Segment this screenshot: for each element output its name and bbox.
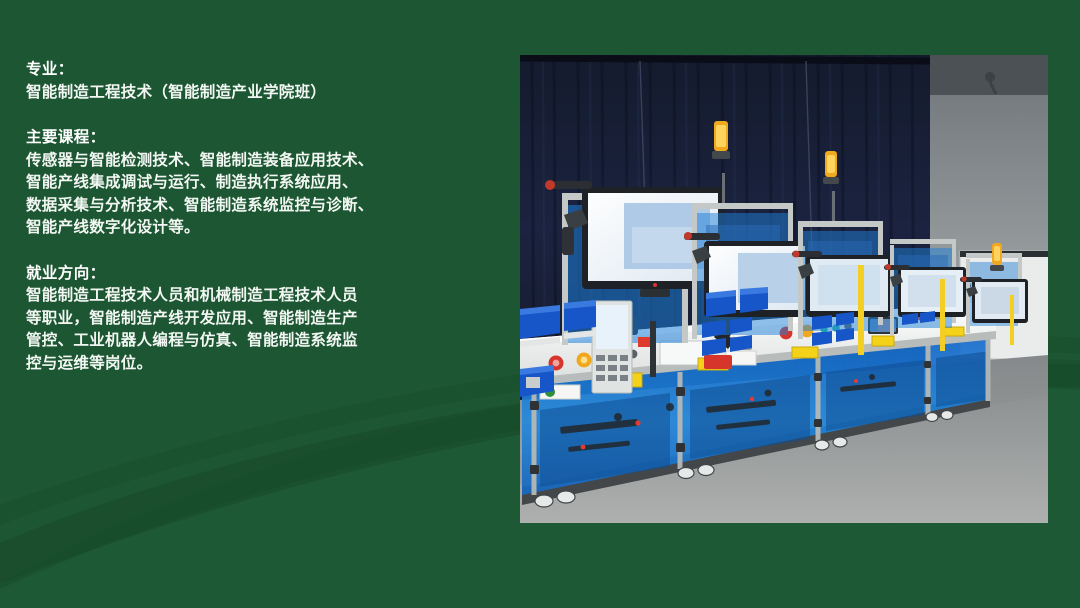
courses-line-4: 智能产线数字化设计等。 (26, 216, 506, 239)
courses-line-2: 智能产线集成调试与运行、制造执行系统应用、 (26, 171, 506, 194)
careers-line-1: 智能制造工程技术人员和机械制造工程技术人员 (26, 284, 506, 307)
careers-line-3: 管控、工业机器人编程与仿真、智能制造系统监 (26, 329, 506, 352)
careers-heading: 就业方向： (26, 262, 506, 285)
text-column: 专业： 智能制造工程技术（智能制造产业学院班） 主要课程： 传感器与智能检测技术… (26, 58, 506, 374)
courses-heading: 主要课程： (26, 126, 506, 149)
major-heading: 专业： (26, 58, 506, 81)
courses-line-1: 传感器与智能检测技术、智能制造装备应用技术、 (26, 149, 506, 172)
workstation-3 (792, 221, 892, 346)
careers-line-2: 等职业，智能制造产线开发应用、智能制造生产 (26, 307, 506, 330)
major-line-1: 智能制造工程技术（智能制造产业学院班） (26, 81, 506, 104)
workstation-4 (884, 239, 966, 335)
block-courses: 主要课程： 传感器与智能检测技术、智能制造装备应用技术、 智能产线集成调试与运行… (26, 126, 506, 239)
slide-root: 专业： 智能制造工程技术（智能制造产业学院班） 主要课程： 传感器与智能检测技术… (0, 0, 1080, 608)
photo-illustration (520, 55, 1048, 523)
training-line-photo (520, 55, 1048, 523)
workstation-5 (960, 243, 1028, 333)
careers-line-4: 控与运维等岗位。 (26, 352, 506, 375)
courses-line-3: 数据采集与分析技术、智能制造系统监控与诊断、 (26, 194, 506, 217)
block-major: 专业： 智能制造工程技术（智能制造产业学院班） (26, 58, 506, 103)
block-careers: 就业方向： 智能制造工程技术人员和机械制造工程技术人员 等职业，智能制造产线开发… (26, 262, 506, 375)
